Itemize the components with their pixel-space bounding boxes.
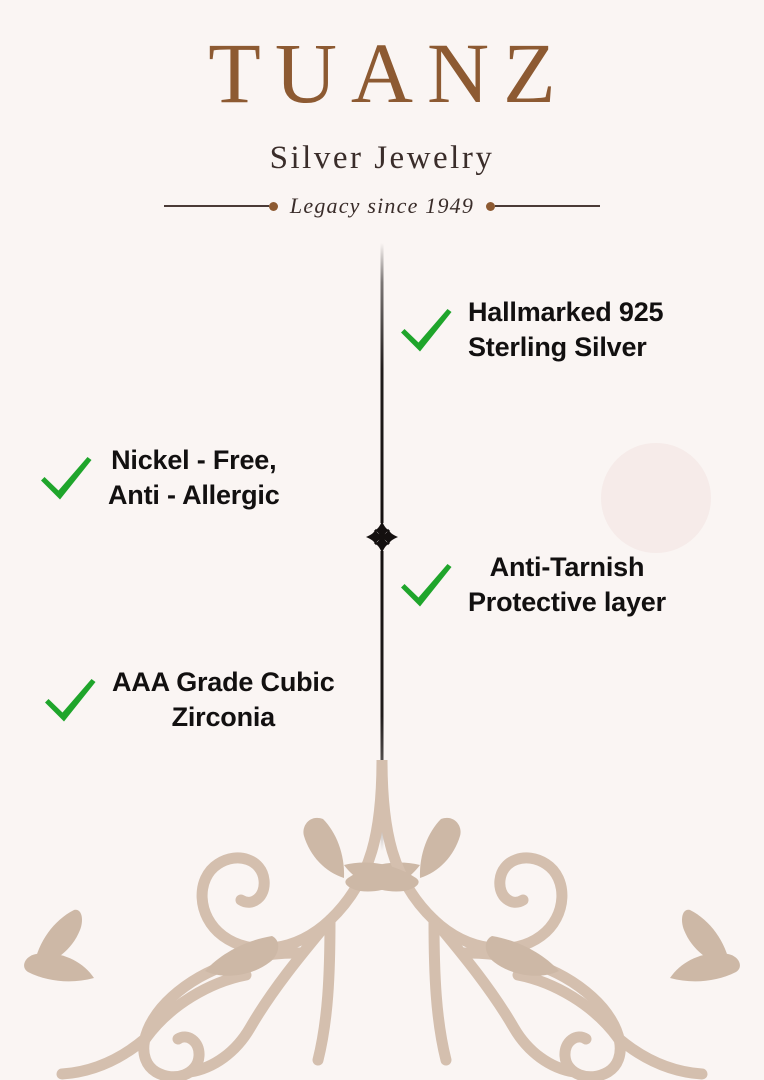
brand-name: TUANZ [0, 30, 764, 116]
feature-item: Nickel - Free, Anti - Allergic [38, 443, 280, 512]
feature-line-1: Anti-Tarnish [490, 552, 645, 582]
feature-line-1: AAA Grade Cubic [112, 667, 335, 697]
feature-label: Hallmarked 925 Sterling Silver [468, 295, 663, 364]
check-icon [42, 676, 98, 724]
tagline-dot-right-icon [486, 202, 495, 211]
feature-item: AAA Grade Cubic Zirconia [42, 665, 335, 734]
check-icon [398, 306, 454, 354]
tagline-row: Legacy since 1949 [0, 193, 764, 219]
feature-item: Hallmarked 925 Sterling Silver [398, 295, 663, 364]
tagline-text: Legacy since 1949 [278, 193, 486, 219]
tagline-rule-right [495, 205, 600, 207]
feature-line-2: Sterling Silver [468, 330, 663, 365]
check-icon [398, 561, 454, 609]
brand-subtitle: Silver Jewelry [0, 142, 764, 175]
feature-label: AAA Grade Cubic Zirconia [112, 665, 335, 734]
tagline-rule-left [164, 205, 269, 207]
tagline-dot-left-icon [269, 202, 278, 211]
divider-line-upper [381, 243, 384, 523]
blush-circle [601, 443, 711, 553]
feature-line-2: Zirconia [112, 700, 335, 735]
quatrefoil-diamond-icon [365, 520, 399, 554]
brand-header: TUANZ Silver Jewelry Legacy since 1949 [0, 30, 764, 219]
feature-line-1: Nickel - Free, [111, 445, 276, 475]
divider-line-lower [381, 551, 384, 851]
check-icon [38, 454, 94, 502]
feature-line-2: Anti - Allergic [108, 478, 280, 513]
feature-line-2: Protective layer [468, 585, 666, 620]
feature-line-1: Hallmarked 925 [468, 297, 663, 327]
poster-canvas: TUANZ Silver Jewelry Legacy since 1949 [0, 0, 764, 1080]
feature-label: Anti-Tarnish Protective layer [468, 550, 666, 619]
feature-item: Anti-Tarnish Protective layer [398, 550, 666, 619]
feature-label: Nickel - Free, Anti - Allergic [108, 443, 280, 512]
